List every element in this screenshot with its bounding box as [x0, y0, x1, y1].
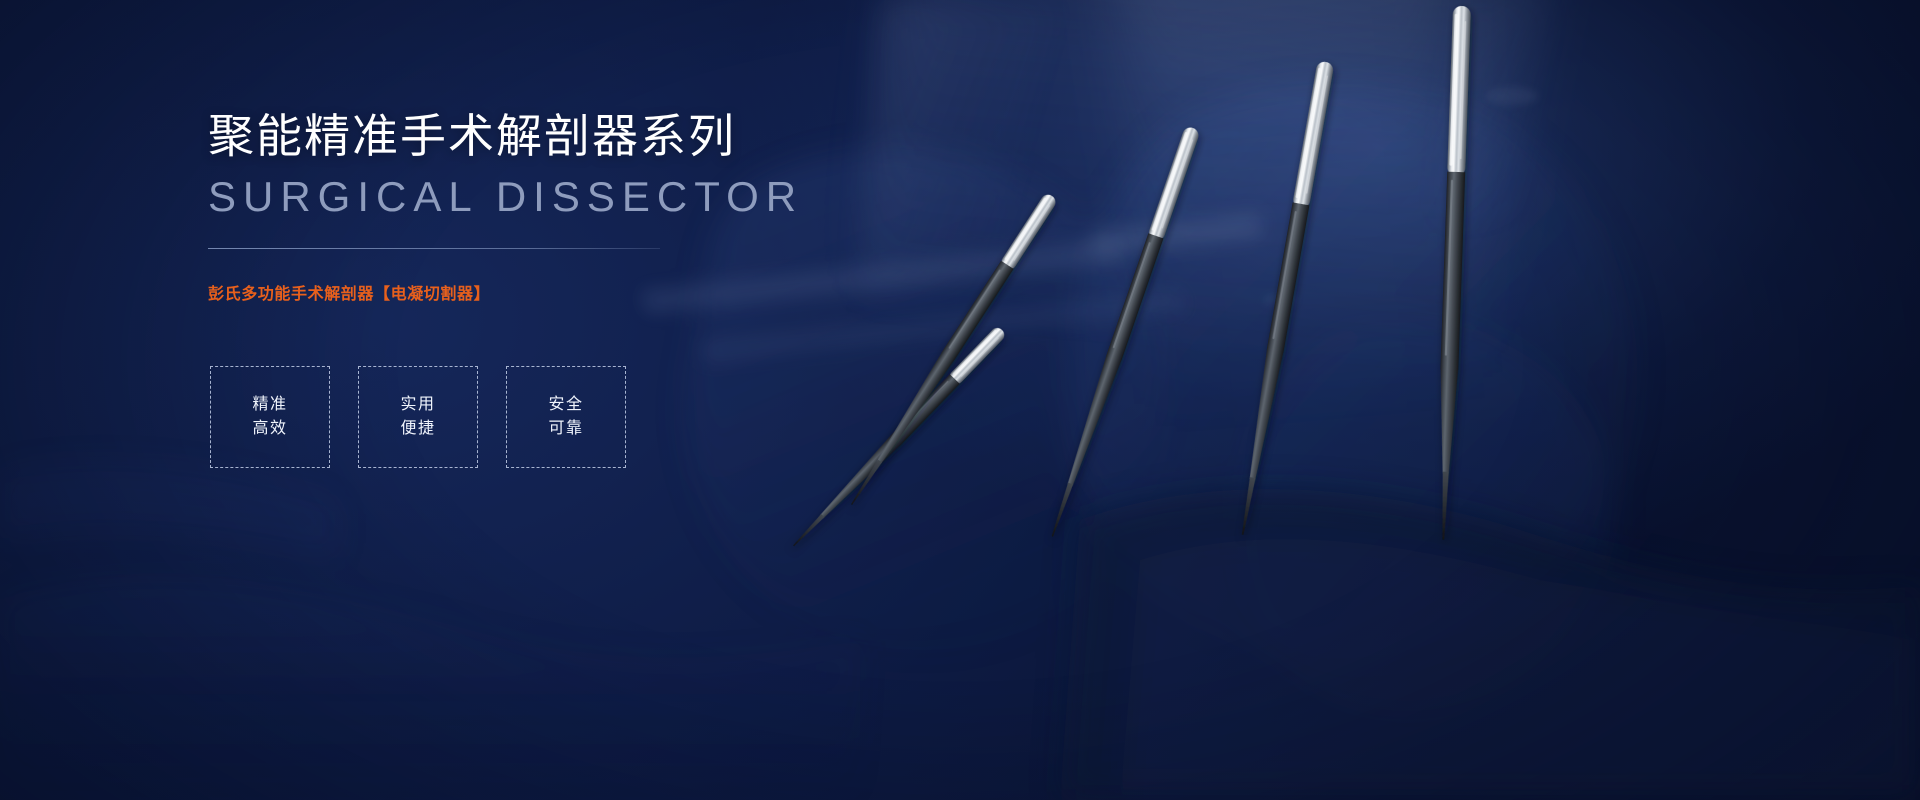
- title-divider: [208, 248, 660, 249]
- feature-box-3-line1: 安全: [548, 397, 583, 413]
- feature-box-2-line1: 实用: [400, 397, 435, 413]
- page-title: 聚能精准手术解剖器系列: [208, 108, 848, 166]
- feature-box-1-line1: 精准: [252, 397, 287, 413]
- page-subtitle-english: SURGICAL DISSECTOR: [208, 172, 848, 222]
- feature-box-2-line2: 便捷: [400, 421, 435, 437]
- feature-box-1-line2: 高效: [252, 421, 287, 437]
- feature-box-1: 精准 高效: [210, 366, 330, 468]
- banner-text-block: 聚能精准手术解剖器系列 SURGICAL DISSECTOR 彭氏多功能手术解剖…: [208, 108, 848, 304]
- feature-box-3-line2: 可靠: [548, 421, 583, 437]
- feature-box-3: 安全 可靠: [506, 366, 626, 468]
- product-banner: 聚能精准手术解剖器系列 SURGICAL DISSECTOR 彭氏多功能手术解剖…: [0, 0, 1920, 800]
- feature-box-group: 精准 高效 实用 便捷 安全 可靠: [210, 366, 626, 468]
- product-image-surgical-dissectors: [940, 0, 1640, 800]
- product-name-highlight: 彭氏多功能手术解剖器【电凝切割器】: [208, 280, 848, 304]
- feature-box-2: 实用 便捷: [358, 366, 478, 468]
